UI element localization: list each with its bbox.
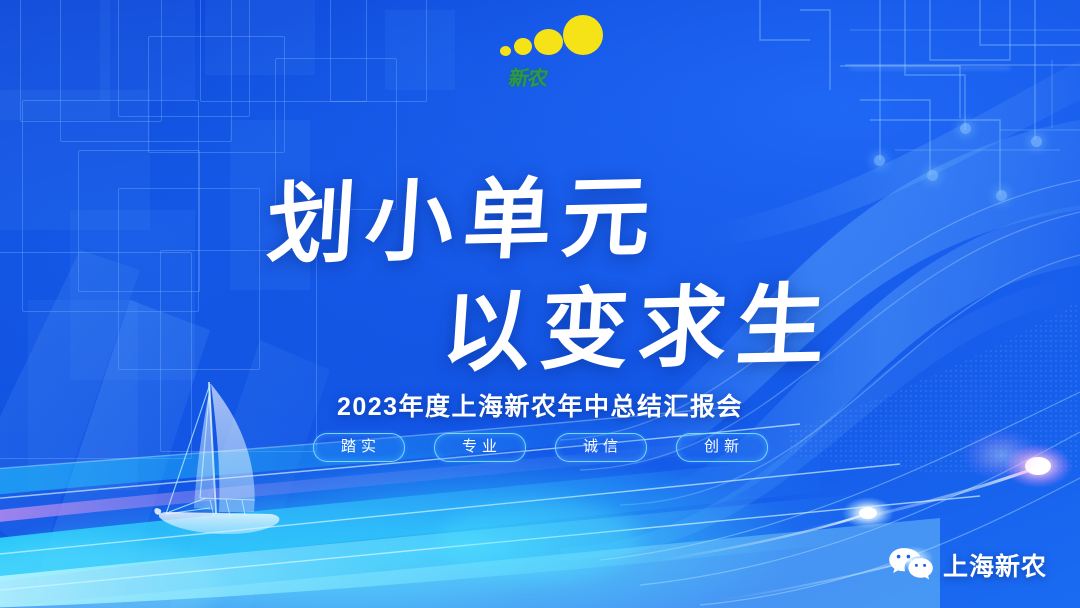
circuit-node-icon [1031,136,1042,147]
value-tag-1: 踏实 [313,433,405,462]
value-tag-4: 创新 [676,433,768,462]
headline-line-2: 以变求生 [438,254,839,389]
logo-wordmark: 新农 [507,65,587,91]
value-tag-list: 踏实 专业 诚信 创新 [0,433,1080,462]
logo-dot-icon [500,46,511,56]
circuit-node-icon [960,123,971,134]
circuit-node-icon [996,190,1007,201]
banner-canvas: 新农 划小单元 以变求生 2023年度上海新农年中总结汇报会 踏实 专业 诚信 … [0,0,1080,608]
logo-dot-icon [514,38,532,55]
circuit-node-icon [874,155,885,166]
logo-dot-icon [534,29,563,55]
value-tag-2: 专业 [434,433,526,462]
wechat-account-badge: 上海新农 [888,543,1047,587]
circuit-node-icon [927,170,938,181]
brand-logo: 新农 [495,12,605,96]
event-subtitle: 2023年度上海新农年中总结汇报会 [0,387,1080,423]
logo-dot-icon [563,15,603,55]
wechat-account-name: 上海新农 [943,547,1047,583]
value-tag-3: 诚信 [555,433,647,462]
wechat-icon [888,546,934,584]
